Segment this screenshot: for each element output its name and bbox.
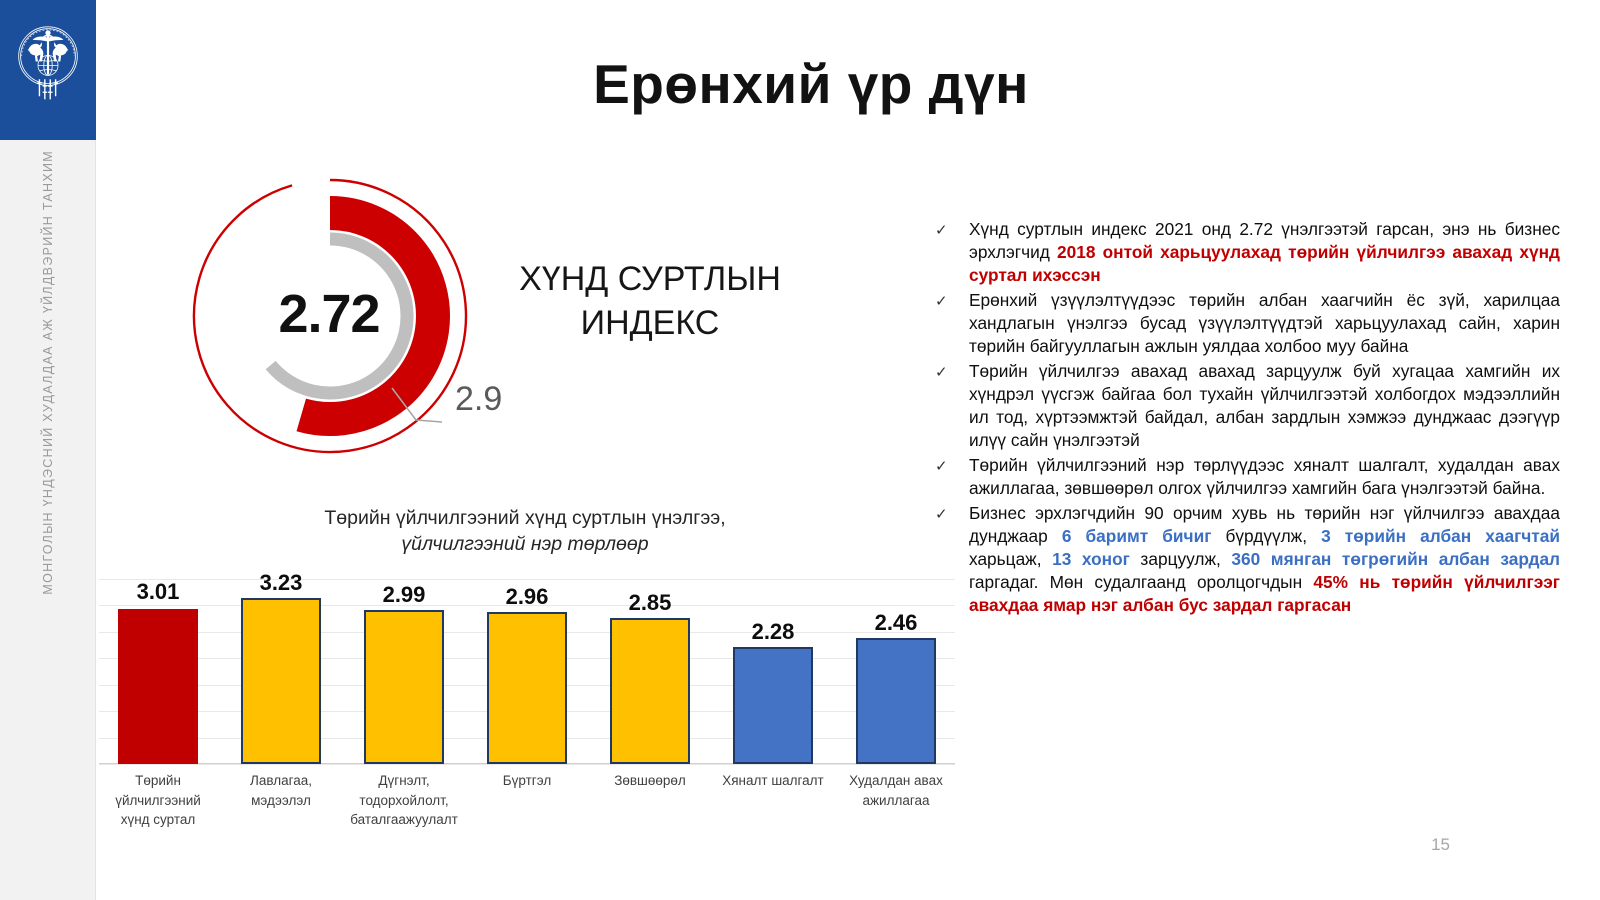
bar[interactable]: 2.28 (733, 647, 813, 764)
bullet-text: Хүнд суртлын индекс 2021 онд 2.72 үнэлгэ… (969, 218, 1560, 287)
bullet-item: ✓Төрийн үйлчилгээний нэр төрлүүдээс хяна… (935, 454, 1560, 500)
bullet-text-segment: 2018 онтой харьцуулахад төрийн үйлчилгээ… (969, 242, 1560, 285)
service-bureaucracy-bar-chart: Төрийн үйлчилгээний хүнд суртлын үнэлгээ… (95, 505, 955, 855)
bar[interactable]: 3.23 (241, 598, 321, 764)
bar-chart-category-labels: Төрийнүйлчилгээнийхүнд сурталЛавлагаа,мэ… (99, 771, 955, 830)
bar-value-label: 2.46 (875, 610, 918, 636)
checkmark-icon: ✓ (935, 454, 969, 475)
bar[interactable]: 2.99 (364, 610, 444, 764)
page-title: Ерөнхий үр дүн (96, 52, 1526, 116)
checkmark-icon: ✓ (935, 289, 969, 310)
bar-category-label-line: хүнд суртал (99, 810, 217, 830)
bar-cell: 2.99 (345, 579, 463, 764)
bar-chart-subtitle: үйлчилгээний нэр төрлөөр (401, 533, 648, 555)
bullet-text-segment: 13 хоног (1052, 549, 1130, 569)
bullet-text-segment: Төрийн үйлчилгээний нэр төрлүүдээс хянал… (969, 455, 1560, 498)
bullet-item: ✓Бизнес эрхлэгчдийн 90 орчим хувь нь төр… (935, 502, 1560, 617)
bar-category-label: Дүгнэлт,тодорхойлолт,баталгаажуулалт (345, 771, 463, 830)
bar-category-label: Худалдан авахажиллагаа (837, 771, 955, 830)
bar-category-label-line: тодорхойлолт, (345, 791, 463, 811)
bullet-text-segment: бүрдүүлж, (1211, 526, 1321, 546)
bar-value-label: 2.28 (752, 619, 795, 645)
bar-category-label-line: үйлчилгээний (99, 791, 217, 811)
page-number: 15 (1431, 835, 1450, 855)
donut-heading: ХҮНД СУРТЛЫН ИНДЕКС (460, 258, 840, 345)
bullet-text-segment: Төрийн үйлчилгээ авахад авахад зарцуулж … (969, 361, 1560, 450)
slide-root: МОНГОЛЫН ҮНДЭСНИЙ ХУДАЛДАА АЖ ҮЙЛДВЭРИЙН… (0, 0, 1600, 900)
bar-category-label-line: Хяналт шалгалт (714, 771, 832, 791)
bar-category-label: Хяналт шалгалт (714, 771, 832, 830)
donut-svg (180, 160, 480, 470)
donut-comparison-arc (271, 239, 407, 393)
bullet-text-segment: 3 төрийн албан хаагчтай (1321, 526, 1560, 546)
bullet-text-segment: 6 баримт бичиг (1062, 526, 1212, 546)
bar-category-label-line: баталгаажуулалт (345, 810, 463, 830)
bullet-text: Төрийн үйлчилгээний нэр төрлүүдээс хянал… (969, 454, 1560, 500)
organization-logo (0, 0, 96, 140)
bar-chart-bars: 3.013.232.992.962.852.282.46 (99, 579, 955, 764)
bar-category-label-line: Зөвшөөрөл (591, 771, 709, 791)
donut-callout-value: 2.9 (455, 380, 502, 419)
bar-cell: 2.85 (591, 579, 709, 764)
gridline (99, 764, 955, 765)
bar-chart-title: Төрийн үйлчилгээний хүнд суртлын үнэлгээ… (95, 505, 955, 558)
bar-value-label: 2.85 (629, 590, 672, 616)
bar[interactable]: 3.01 (118, 609, 198, 764)
chamber-emblem-icon (9, 16, 87, 124)
bullet-text-segment: харьцаж, (969, 549, 1052, 569)
bar-value-label: 2.96 (506, 584, 549, 610)
bar-category-label-line: ажиллагаа (837, 791, 955, 811)
bullet-item: ✓Төрийн үйлчилгээ авахад авахад зарцуулж… (935, 360, 1560, 452)
bar-category-label: Төрийнүйлчилгээнийхүнд суртал (99, 771, 217, 830)
bar-category-label-line: Бүртгэл (468, 771, 586, 791)
bar-value-label: 3.01 (137, 579, 180, 605)
checkmark-icon: ✓ (935, 218, 969, 239)
bar-cell: 3.01 (99, 579, 217, 764)
bar-category-label: Зөвшөөрөл (591, 771, 709, 830)
bar-category-label-line: Лавлагаа, (222, 771, 340, 791)
bar-chart-title-main: Төрийн үйлчилгээний хүнд суртлын үнэлгээ… (324, 507, 725, 529)
sidebar-vertical-caption: МОНГОЛЫН ҮНДЭСНИЙ ХУДАЛДАА АЖ ҮЙЛДВЭРИЙН… (0, 150, 96, 850)
bar-category-label-line: мэдээлэл (222, 791, 340, 811)
bar-category-label-line: Дүгнэлт, (345, 771, 463, 791)
donut-heading-line2: ИНДЕКС (460, 302, 840, 346)
bar-category-label-line: Төрийн (99, 771, 217, 791)
checkmark-icon: ✓ (935, 502, 969, 523)
sidebar-vertical-caption-text: МОНГОЛЫН ҮНДЭСНИЙ ХУДАЛДАА АЖ ҮЙЛДВЭРИЙН… (41, 150, 55, 595)
bullet-text-segment: гаргадаг. Мөн судалгаанд оролцогчдын (969, 572, 1313, 592)
bureaucracy-index-donut-chart: 2.72 (180, 160, 480, 470)
bar[interactable]: 2.46 (856, 638, 936, 764)
bar-category-label-line: Худалдан авах (837, 771, 955, 791)
left-sidebar: МОНГОЛЫН ҮНДЭСНИЙ ХУДАЛДАА АЖ ҮЙЛДВЭРИЙН… (0, 0, 96, 900)
bullet-text: Төрийн үйлчилгээ авахад авахад зарцуулж … (969, 360, 1560, 452)
donut-heading-line1: ХҮНД СУРТЛЫН (460, 258, 840, 302)
checkmark-icon: ✓ (935, 360, 969, 381)
bar-chart-plot-area: 3.013.232.992.962.852.282.46 (99, 579, 955, 764)
bullet-text: Ерөнхий үзүүлэлтүүдээс төрийн албан хааг… (969, 289, 1560, 358)
bullet-text-segment: зарцуулж, (1130, 549, 1232, 569)
bar-cell: 3.23 (222, 579, 340, 764)
bar-category-label: Бүртгэл (468, 771, 586, 830)
bar-value-label: 2.99 (383, 582, 426, 608)
bullet-text-segment: 360 мянган төгрөгийн албан зардал (1231, 549, 1560, 569)
bar-value-label: 3.23 (260, 570, 303, 596)
bar[interactable]: 2.96 (487, 612, 567, 764)
bullet-item: ✓Ерөнхий үзүүлэлтүүдээс төрийн албан хаа… (935, 289, 1560, 358)
bullet-item: ✓Хүнд суртлын индекс 2021 онд 2.72 үнэлг… (935, 218, 1560, 287)
bar-cell: 2.28 (714, 579, 832, 764)
findings-bullet-list: ✓Хүнд суртлын индекс 2021 онд 2.72 үнэлг… (935, 218, 1560, 619)
bar-category-label: Лавлагаа,мэдээлэл (222, 771, 340, 830)
bullet-text-segment: Ерөнхий үзүүлэлтүүдээс төрийн албан хааг… (969, 290, 1560, 356)
bar[interactable]: 2.85 (610, 618, 690, 764)
bullet-text: Бизнес эрхлэгчдийн 90 орчим хувь нь төри… (969, 502, 1560, 617)
bar-cell: 2.96 (468, 579, 586, 764)
